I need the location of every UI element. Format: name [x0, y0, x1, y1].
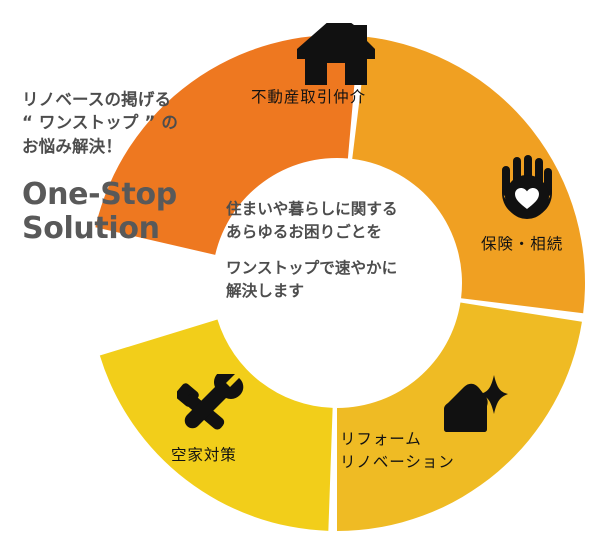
brand-title-line-1: One-Stop — [22, 178, 237, 212]
slice-label-insurance: 保険・相続 — [481, 233, 563, 256]
hammer-wrench-icon — [177, 374, 253, 442]
hand-heart-icon — [499, 155, 555, 227]
center-text-block: 住まいや暮らしに関する あらゆるお困りごとを ワンストップで速やかに 解決します — [226, 198, 476, 303]
center-paragraph-2-line-1: ワンストップで速やかに — [226, 257, 476, 280]
slice-label-renovation-line-2: リノベーション — [340, 451, 455, 474]
slice-label-vacant-house: 空家対策 — [171, 444, 237, 467]
house-icon — [294, 23, 376, 89]
brand-title-line-2: Solution — [22, 212, 237, 246]
slice-label-brokerage: 不動産取引仲介 — [251, 86, 366, 109]
left-text-block: リノベースの掲げる “ ワンストップ ” の お悩み解決！ One-Stop S… — [22, 88, 237, 245]
sparkle-house-icon — [438, 375, 508, 441]
center-paragraph-2-line-2: 解決します — [226, 280, 476, 303]
lead-line-3: お悩み解決！ — [22, 135, 237, 158]
center-paragraph-1-line-2: あらゆるお困りごとを — [226, 221, 476, 244]
one-stop-solution-infographic: リノベースの掲げる “ ワンストップ ” の お悩み解決！ One-Stop S… — [0, 0, 600, 533]
brand-title: One-Stop Solution — [22, 178, 237, 245]
lead-line-1: リノベースの掲げる — [22, 88, 237, 111]
lead-line-2: “ ワンストップ ” の — [22, 111, 237, 134]
center-paragraph-1-line-1: 住まいや暮らしに関する — [226, 198, 476, 221]
